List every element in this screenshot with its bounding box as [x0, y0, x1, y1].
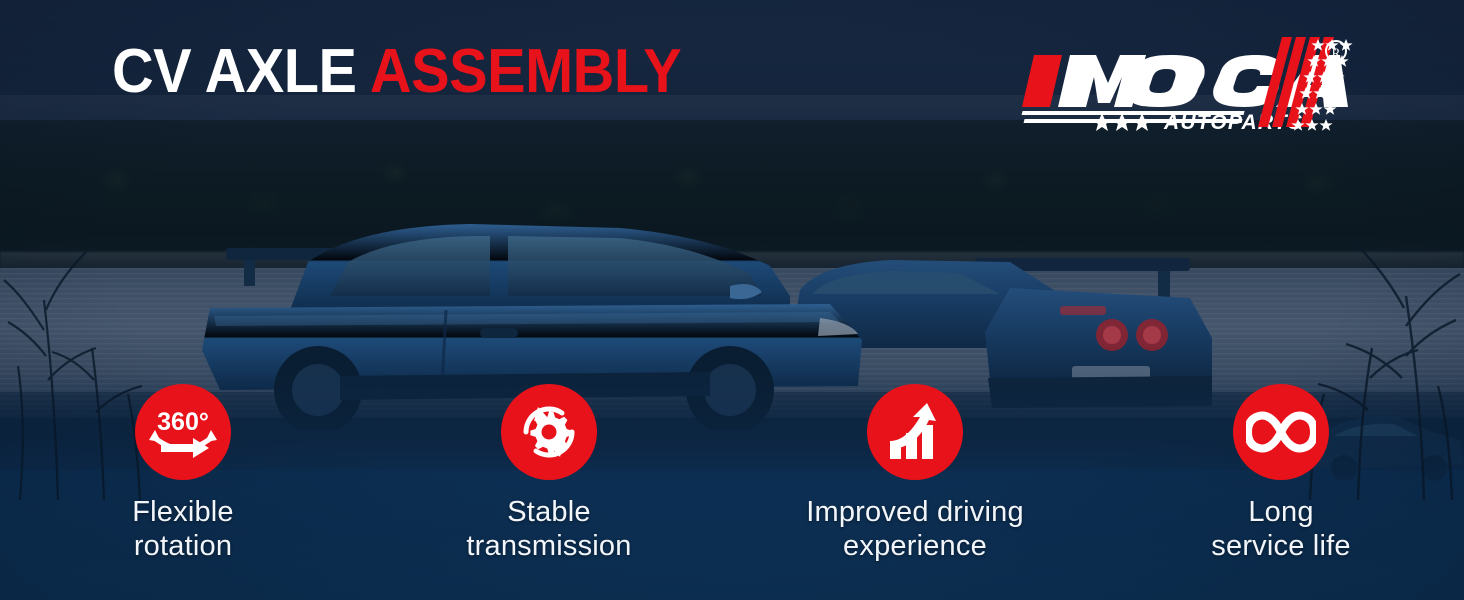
logo-tagline-stars	[1092, 113, 1152, 131]
feature-icon-badge	[867, 384, 963, 480]
feature-icon-badge: 360°	[135, 384, 231, 480]
page-title-red: ASSEMBLY	[370, 37, 681, 106]
feature-label: Long service life	[1211, 495, 1350, 563]
infinity-icon	[1246, 409, 1316, 455]
feature-item-improved-driving: Improved driving experience	[732, 384, 1098, 584]
rotation-degrees-label: 360°	[157, 408, 209, 436]
growth-chart-icon	[882, 399, 948, 465]
page-title: CV AXLE ASSEMBLY	[112, 41, 681, 103]
feature-item-flexible-rotation: 360° Flexible rotation	[0, 384, 366, 584]
feature-label: Flexible rotation	[132, 495, 234, 563]
feature-icon-badge	[501, 384, 597, 480]
gear-sync-icon	[514, 397, 584, 467]
360-rotation-icon: 360°	[147, 398, 219, 466]
product-banner: CV AXLE ASSEMBLY	[0, 0, 1464, 600]
page-title-white: CV AXLE	[112, 37, 370, 106]
feature-label: Stable transmission	[466, 495, 631, 563]
feature-label: Improved driving experience	[806, 495, 1024, 563]
logo-red-bar	[1022, 55, 1062, 107]
registered-trademark-glyph: R	[1332, 45, 1341, 60]
feature-list: 360° Flexible rotation	[0, 384, 1464, 584]
feature-item-long-service-life: Long service life	[1098, 384, 1464, 584]
brand-logo: AUTOPARTS	[1018, 33, 1358, 133]
feature-icon-badge	[1233, 384, 1329, 480]
feature-item-stable-transmission: Stable transmission	[366, 384, 732, 584]
